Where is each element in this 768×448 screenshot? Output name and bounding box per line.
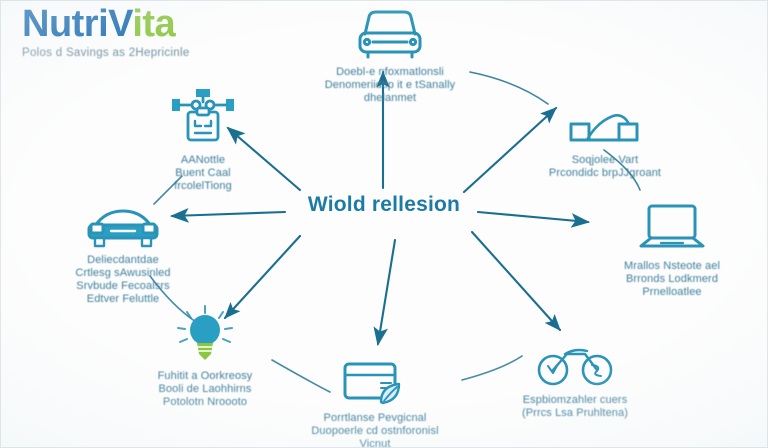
node-bottom-label: Porrtlanse Pevgicnal Duopoerle cd ostnfo… (282, 412, 468, 448)
node-bottom-line-2: Duopoerle cd ostnforonisl (282, 425, 468, 438)
node-left-line-1: Deliecdantdae (30, 254, 216, 267)
brand-logo: NutriVita Polos d Savings as 2Hepricinle (22, 2, 272, 59)
node-right[interactable]: Mrallos Nsteote ael Brronds Lodkmerd Prn… (579, 196, 765, 299)
arrow-hub-to-botright (472, 232, 560, 330)
brand-name-blue: NutriV (22, 3, 132, 45)
node-top-line-1: Doebl-e nfoxmatlonsli (297, 66, 483, 79)
node-topleft[interactable]: AANottle Buent Caal frcolelTiong (110, 90, 296, 193)
car-front-icon (297, 2, 483, 62)
laptop-icon (579, 196, 765, 256)
node-left-line-3: Srvbude Fecoalsrs (30, 280, 216, 293)
node-bottom-line-3: Vicnut (282, 438, 468, 448)
node-botright-label: Espbiomzahler cuers (Prrcs Lsa Pruhltena… (482, 394, 668, 420)
node-top-line-3: dhelanmet (297, 92, 483, 105)
node-right-label: Mrallos Nsteote ael Brronds Lodkmerd Prn… (579, 260, 765, 299)
node-left-label: Deliecdantdae Crtlesg sAwusinled Srvbude… (30, 254, 216, 306)
node-right-line-1: Mrallos Nsteote ael (579, 260, 765, 273)
node-topright-line-1: Soqjolee Vart (512, 154, 698, 167)
node-topright[interactable]: Soqjolee Vart Prcondidc brpJJgroant (512, 90, 698, 180)
node-topleft-label: AANottle Buent Caal frcolelTiong (110, 154, 296, 193)
node-left[interactable]: Deliecdantdae Crtlesg sAwusinled Srvbude… (30, 190, 216, 306)
brand-name-green: ita (132, 3, 175, 45)
node-botleft[interactable]: Fuhitit a Oorkreosy Booli de Laohhirns P… (112, 306, 298, 409)
node-botleft-line-1: Fuhitit a Oorkreosy (112, 370, 298, 383)
lightbulb-icon (112, 306, 298, 366)
hub-label: Wiold rellesion (296, 193, 472, 217)
node-topleft-line-2: Buent Caal (110, 167, 296, 180)
bicycle-icon (482, 330, 668, 390)
node-bottom-line-1: Porrtlanse Pevgicnal (282, 412, 468, 425)
satellite-clipboard-icon (110, 90, 296, 150)
node-right-line-3: Prnelloatlee (579, 286, 765, 299)
node-botleft-label: Fuhitit a Oorkreosy Booli de Laohhirns P… (112, 370, 298, 409)
node-botright-line-2: (Prrcs Lsa Pruhltena) (482, 407, 668, 420)
node-topright-line-2: Prcondidc brpJJgroant (512, 167, 698, 180)
node-botleft-line-3: Potolotn Nroooto (112, 396, 298, 409)
node-topright-label: Soqjolee Vart Prcondidc brpJJgroant (512, 154, 698, 180)
node-left-line-2: Crtlesg sAwusinled (30, 267, 216, 280)
arrow-hub-to-bottom (378, 240, 395, 344)
node-botleft-line-2: Booli de Laohhirns (112, 383, 298, 396)
node-top-label: Doebl-e nfoxmatlonsli Denomeriidtlp it e… (297, 66, 483, 105)
node-topleft-line-3: frcolelTiong (110, 180, 296, 193)
node-top[interactable]: Doebl-e nfoxmatlonsli Denomeriidtlp it e… (297, 2, 483, 105)
car-side-icon (30, 190, 216, 250)
node-botright[interactable]: Espbiomzahler cuers (Prrcs Lsa Pruhltena… (482, 330, 668, 420)
node-left-line-4: Edtver Feluttle (30, 293, 216, 306)
sofa-bench-icon (512, 90, 698, 150)
credit-card-leaf-icon (282, 348, 468, 408)
arrow-hub-to-right (478, 212, 588, 222)
node-topleft-line-1: AANottle (110, 154, 296, 167)
node-right-line-2: Brronds Lodkmerd (579, 273, 765, 286)
diagram-canvas: NutriVita Polos d Savings as 2Hepricinle… (0, 0, 768, 448)
node-botright-line-1: Espbiomzahler cuers (482, 394, 668, 407)
node-top-line-2: Denomeriidtlp it e tSanally (297, 79, 483, 92)
brand-wordmark: NutriVita (22, 2, 272, 46)
node-bottom[interactable]: Porrtlanse Pevgicnal Duopoerle cd ostnfo… (282, 348, 468, 448)
brand-tagline: Polos d Savings as 2Hepricinle (22, 47, 272, 59)
